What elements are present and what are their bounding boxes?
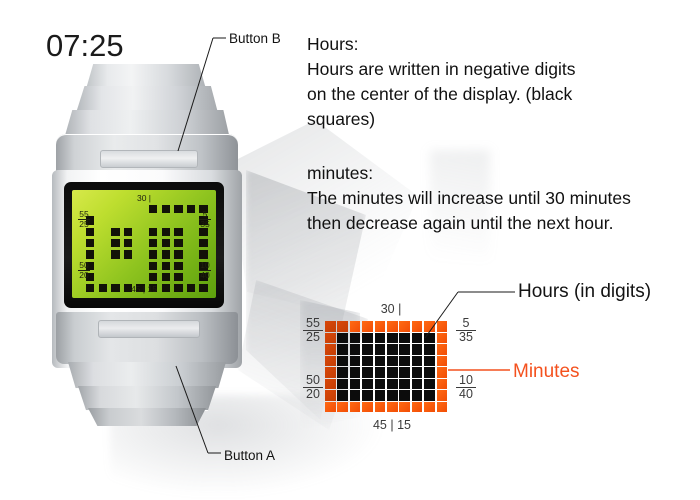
example-hour-cell xyxy=(375,344,386,355)
example-scale-right-bottom-den: 40 xyxy=(456,388,476,401)
example-hour-cell xyxy=(350,344,361,355)
example-hour-cell xyxy=(362,367,373,378)
example-minute-cell xyxy=(337,402,348,413)
example-hour-cell xyxy=(375,367,386,378)
strap-link-lower-1 xyxy=(68,362,226,389)
minutes-line-2: then decrease again until the next hour. xyxy=(307,211,697,236)
strap-link-upper-3 xyxy=(86,64,206,89)
lcd-scale-right-bottom: 10 40 xyxy=(196,261,214,279)
example-hour-cell xyxy=(399,344,410,355)
example-scale-left-bottom: 50 20 xyxy=(303,374,323,401)
example-hour-cell xyxy=(350,379,361,390)
lcd-dot xyxy=(149,250,157,258)
lcd-scale-right-top-den: 35 xyxy=(199,220,210,229)
lcd-dot xyxy=(187,205,195,213)
example-minute-cell xyxy=(437,333,448,344)
example-scale-right-bottom-num: 10 xyxy=(456,374,476,388)
example-minute-cell xyxy=(412,321,423,332)
example-minute-cell xyxy=(325,356,336,367)
lcd-dot xyxy=(124,239,132,247)
example-hour-cell xyxy=(399,333,410,344)
lcd-dot xyxy=(149,239,157,247)
lcd-dot xyxy=(149,262,157,270)
strap-link-lower-3 xyxy=(88,408,206,426)
example-minute-cell xyxy=(399,321,410,332)
callout-label-minutes: Minutes xyxy=(513,361,580,383)
lcd-dot xyxy=(99,284,107,292)
watch-lcd-display: 30 | 45 | 15 55 25 50 20 5 35 xyxy=(72,190,216,298)
lcd-dot xyxy=(149,228,157,236)
example-hour-cell xyxy=(424,379,435,390)
example-hour-cell xyxy=(375,333,386,344)
button-b[interactable] xyxy=(100,150,198,168)
example-minute-cell xyxy=(387,402,398,413)
lcd-scale-right-bottom-den: 40 xyxy=(199,271,210,280)
callout-label-hours-in-digits: Hours (in digits) xyxy=(518,281,651,303)
example-hour-cell xyxy=(362,356,373,367)
lcd-scale-left-bottom-den: 20 xyxy=(78,271,89,280)
example-minute-cell xyxy=(325,390,336,401)
example-hour-cell xyxy=(350,333,361,344)
lcd-scale-left-bottom: 50 20 xyxy=(75,261,93,279)
example-minute-cell xyxy=(325,333,336,344)
lcd-dot xyxy=(111,228,119,236)
lcd-dot xyxy=(174,228,182,236)
example-hour-cell xyxy=(387,390,398,401)
lcd-dot xyxy=(174,273,182,281)
lcd-dot xyxy=(162,273,170,281)
lcd-dot xyxy=(162,239,170,247)
example-hour-cell xyxy=(375,390,386,401)
example-hour-cell xyxy=(337,367,348,378)
callout-label-button-b: Button B xyxy=(229,31,281,46)
example-hour-cell xyxy=(375,356,386,367)
example-hour-cell xyxy=(424,344,435,355)
example-minute-cell xyxy=(437,356,448,367)
example-minute-cell xyxy=(424,402,435,413)
clock-time-readout: 07:25 xyxy=(46,28,124,64)
hours-line-2: on the center of the display. (black xyxy=(307,82,697,107)
example-minute-cell xyxy=(437,367,448,378)
example-minute-cell xyxy=(350,402,361,413)
example-scale-left-bottom-num: 50 xyxy=(303,374,323,388)
example-scale-left-top-den: 25 xyxy=(303,331,323,344)
example-hour-cell xyxy=(387,367,398,378)
lcd-dot xyxy=(149,205,157,213)
minutes-heading: minutes: xyxy=(307,161,697,186)
lcd-dot xyxy=(111,284,119,292)
callout-label-button-a: Button A xyxy=(224,448,275,463)
example-hour-cell xyxy=(412,379,423,390)
lcd-dot xyxy=(124,228,132,236)
example-scale-right-top: 5 35 xyxy=(456,317,476,344)
example-hour-cell xyxy=(362,333,373,344)
lcd-dot xyxy=(86,284,94,292)
example-hour-cell xyxy=(399,379,410,390)
lcd-scale-right-top: 5 35 xyxy=(196,210,214,228)
lcd-dot xyxy=(86,239,94,247)
example-scale-left-top: 55 25 xyxy=(303,317,323,344)
lcd-dot xyxy=(162,262,170,270)
example-minute-cell xyxy=(325,402,336,413)
example-minute-cell xyxy=(437,402,448,413)
lcd-scale-left-top-den: 25 xyxy=(78,220,89,229)
example-hour-cell xyxy=(424,356,435,367)
lcd-dot xyxy=(174,284,182,292)
lcd-dot xyxy=(199,284,207,292)
lcd-dot xyxy=(162,205,170,213)
minutes-line-1: The minutes will increase until 30 minut… xyxy=(307,186,697,211)
example-minute-cell xyxy=(325,367,336,378)
example-minute-cell xyxy=(337,321,348,332)
example-hour-cell xyxy=(350,367,361,378)
lcd-dot xyxy=(124,250,132,258)
example-hour-cell xyxy=(412,390,423,401)
lcd-dot xyxy=(149,273,157,281)
hours-description-block: Hours: Hours are written in negative dig… xyxy=(307,32,697,132)
example-hour-cell xyxy=(337,390,348,401)
example-minute-cell xyxy=(437,379,448,390)
lcd-dot-matrix xyxy=(72,190,216,298)
lcd-dot xyxy=(199,228,207,236)
example-minute-cell xyxy=(437,321,448,332)
example-hour-cell xyxy=(387,379,398,390)
lcd-dot xyxy=(174,262,182,270)
example-hour-cell xyxy=(424,333,435,344)
example-scale-right-bottom: 10 40 xyxy=(456,374,476,401)
example-hour-cell xyxy=(387,356,398,367)
lcd-dot xyxy=(86,228,94,236)
lcd-dot xyxy=(174,205,182,213)
example-hour-cell xyxy=(387,344,398,355)
example-hour-cell xyxy=(412,367,423,378)
example-hour-cell xyxy=(399,356,410,367)
lcd-dot xyxy=(174,250,182,258)
button-a[interactable] xyxy=(98,320,200,338)
example-minute-cell xyxy=(325,379,336,390)
example-minute-cell xyxy=(325,321,336,332)
example-hour-cell xyxy=(375,379,386,390)
example-minute-cell xyxy=(325,344,336,355)
example-minute-cell xyxy=(387,321,398,332)
lcd-dot xyxy=(199,239,207,247)
lcd-scale-bottom: 45 | 15 xyxy=(120,285,168,294)
example-minute-cell xyxy=(375,321,386,332)
example-hour-cell xyxy=(350,390,361,401)
example-hour-cell xyxy=(412,344,423,355)
example-hour-cell xyxy=(362,344,373,355)
example-hour-cell xyxy=(362,390,373,401)
example-minute-cell xyxy=(362,321,373,332)
example-hour-cell xyxy=(424,367,435,378)
hours-line-3: squares) xyxy=(307,107,697,132)
example-minute-cell xyxy=(375,402,386,413)
example-hour-cell xyxy=(387,333,398,344)
strap-link-upper-2 xyxy=(76,86,218,113)
lcd-dot xyxy=(162,250,170,258)
hours-heading: Hours: xyxy=(307,32,697,57)
example-hour-cell xyxy=(399,367,410,378)
example-scale-right-top-num: 5 xyxy=(456,317,476,331)
example-hour-cell xyxy=(362,379,373,390)
example-scale-left-top-num: 55 xyxy=(303,317,323,331)
example-hour-cell xyxy=(412,333,423,344)
hours-line-1: Hours are written in negative digits xyxy=(307,57,697,82)
example-hour-cell xyxy=(424,390,435,401)
example-minute-cell xyxy=(424,321,435,332)
example-minute-cell xyxy=(350,321,361,332)
lcd-dot xyxy=(111,239,119,247)
lcd-scale-left-top: 55 25 xyxy=(75,210,93,228)
example-hour-cell xyxy=(337,379,348,390)
watch-illustration: 30 | 45 | 15 55 25 50 20 5 35 xyxy=(50,62,260,422)
example-hour-cell xyxy=(399,390,410,401)
example-minute-cell xyxy=(362,402,373,413)
example-hour-cell xyxy=(337,344,348,355)
strap-link-lower-2 xyxy=(78,386,216,411)
example-minute-cell xyxy=(412,402,423,413)
example-hour-cell xyxy=(337,333,348,344)
example-hour-cell xyxy=(350,356,361,367)
example-minute-cell xyxy=(437,344,448,355)
example-scale-bottom: 45 | 15 xyxy=(369,419,415,432)
lcd-dot xyxy=(86,250,94,258)
example-hour-cell xyxy=(412,356,423,367)
lcd-dot xyxy=(162,228,170,236)
lcd-dot xyxy=(111,250,119,258)
example-scale-right-top-den: 35 xyxy=(456,331,476,344)
screenshot-canvas: 07:25 30 | 45 | 15 55 25 50 20 xyxy=(0,0,700,500)
minutes-description-block: minutes: The minutes will increase until… xyxy=(307,161,697,236)
example-hour-cell xyxy=(337,356,348,367)
lcd-dot xyxy=(187,284,195,292)
example-minute-cell xyxy=(399,402,410,413)
lcd-dot xyxy=(199,250,207,258)
example-scale-left-bottom-den: 20 xyxy=(303,388,323,401)
lcd-scale-top: 30 | xyxy=(122,194,166,203)
example-minute-cell xyxy=(437,390,448,401)
lcd-dot xyxy=(174,239,182,247)
example-dot-matrix-grid xyxy=(325,321,449,413)
example-scale-top: 30 | xyxy=(371,303,411,316)
